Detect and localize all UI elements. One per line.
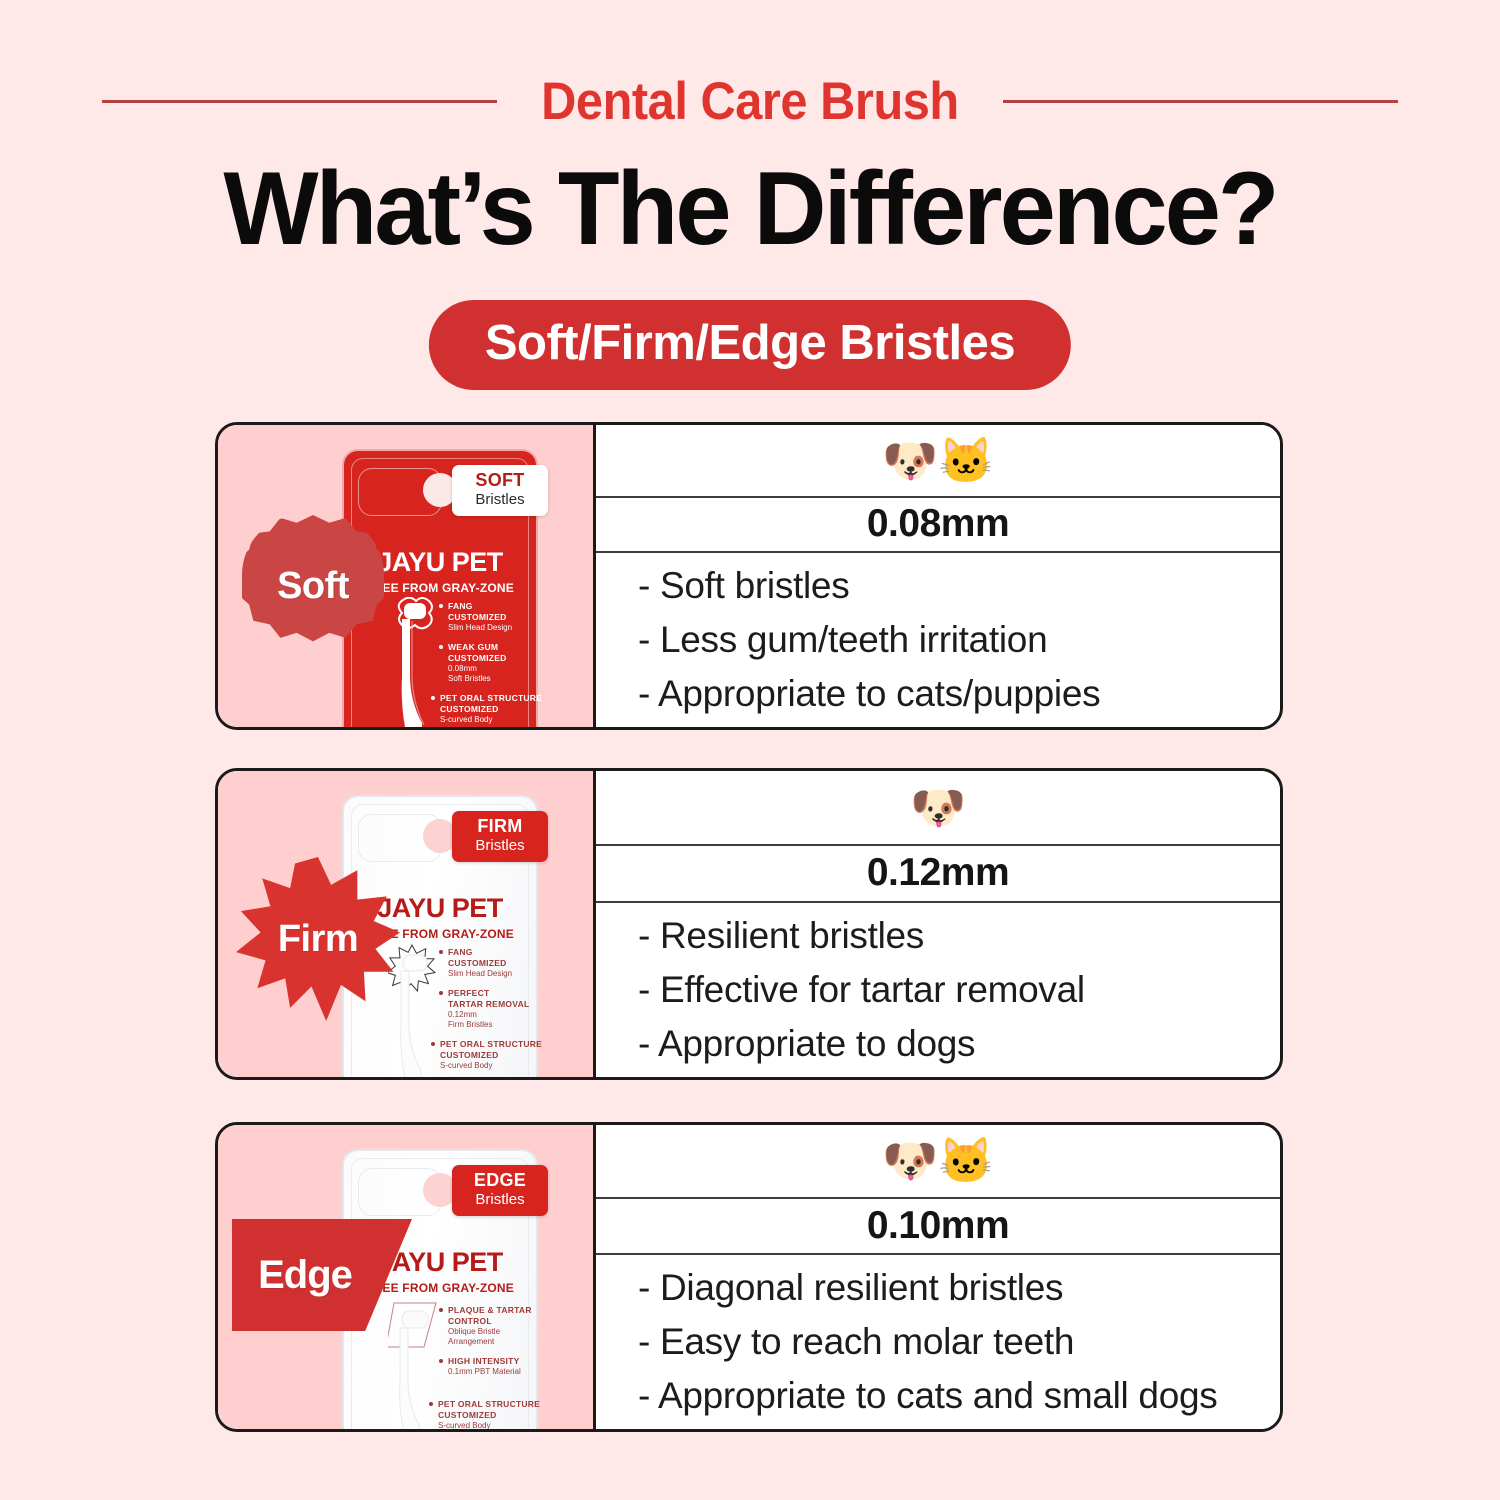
feature-list: - Resilient bristles - Effective for tar… <box>596 903 1280 1077</box>
bristle-thickness-value: 0.12mm <box>596 846 1280 903</box>
annotation-head: PET ORAL STRUCTURE CUSTOMIZED <box>440 1039 544 1061</box>
annotation-sub: 0.12mm Firm Bristles <box>448 1010 542 1030</box>
annotation-sub: Slim Head Design <box>448 623 542 633</box>
feature-list: - Diagonal resilient bristles - Easy to … <box>596 1255 1280 1429</box>
annotation-head: HIGH INTENSITY <box>448 1356 542 1367</box>
toothbrush-illustration-icon <box>388 943 440 1077</box>
eyebrow-rule-right <box>1003 100 1398 103</box>
annotation-sub: Slim Head Design <box>448 969 542 979</box>
annotation-sub: S-curved Body <box>440 1061 544 1071</box>
list-item: - Effective for tartar removal <box>638 963 1280 1017</box>
spec-panel: 🐶🐱 0.10mm - Diagonal resilient bristles … <box>596 1125 1280 1429</box>
pet-suitability-icons: 🐶🐱 <box>596 425 1280 498</box>
annotation-group: PET ORAL STRUCTURE CUSTOMIZED S-curved B… <box>438 1399 544 1429</box>
annotation-sub: S-curved Body <box>440 715 544 725</box>
list-item: - Less gum/teeth irritation <box>638 613 1280 667</box>
pet-suitability-icons: 🐶 <box>596 771 1280 846</box>
bristle-tag-title: FIRM <box>456 817 544 836</box>
product-image-panel: SOFT Bristles JAYU PET FREE FROM GRAY-ZO… <box>218 425 596 727</box>
list-item: - Appropriate to dogs <box>638 1017 1280 1071</box>
subtitle-pill: Soft/Firm/Edge Bristles <box>429 300 1071 390</box>
list-item: - Soft bristles <box>638 559 1280 613</box>
annotation-group: PERFECT TARTAR REMOVAL 0.12mm Firm Brist… <box>448 988 542 1030</box>
annotation-dot-icon <box>439 991 443 995</box>
annotation-group: FANG CUSTOMIZED Slim Head Design <box>448 601 542 633</box>
annotation-group: FANG CUSTOMIZED Slim Head Design <box>448 947 542 979</box>
bristle-thickness-value: 0.08mm <box>596 498 1280 553</box>
annotation-dot-icon <box>439 604 443 608</box>
list-item: - Diagonal resilient bristles <box>638 1261 1280 1315</box>
bristle-tag-sub: Bristles <box>456 492 544 508</box>
comparison-card-soft: SOFT Bristles JAYU PET FREE FROM GRAY-ZO… <box>215 422 1283 730</box>
toothbrush-illustration-icon <box>388 1297 440 1429</box>
bristle-type-tag: SOFT Bristles <box>452 465 548 516</box>
annotation-head: PET ORAL STRUCTURE CUSTOMIZED <box>440 693 544 715</box>
annotation-dot-icon <box>439 950 443 954</box>
product-image-panel: FIRM Bristles JAYU PET FREE FROM GRAY-ZO… <box>218 771 596 1077</box>
bristle-tag-sub: Bristles <box>456 838 544 854</box>
bristle-tag-title: SOFT <box>456 471 544 490</box>
page-title: What’s The Difference? <box>23 150 1478 269</box>
annotation-dot-icon <box>439 1308 443 1312</box>
pet-suitability-icons: 🐶🐱 <box>596 1125 1280 1199</box>
comparison-card-firm: FIRM Bristles JAYU PET FREE FROM GRAY-ZO… <box>215 768 1283 1080</box>
list-item: - Appropriate to cats/puppies <box>638 667 1280 721</box>
annotation-sub: 0.08mm Soft Bristles <box>448 664 542 684</box>
package-annotations: FANG CUSTOMIZED Slim Head Design WEAK GU… <box>448 601 542 727</box>
eyebrow-title: Dental Care Brush <box>541 71 959 132</box>
annotation-head: PLAQUE & TARTAR CONTROL <box>448 1305 542 1327</box>
annotation-dot-icon <box>439 645 443 649</box>
annotation-head: PET ORAL STRUCTURE CUSTOMIZED <box>438 1399 544 1421</box>
annotation-sub: Oblique Bristle Arrangement <box>448 1327 542 1347</box>
annotation-group: PET ORAL STRUCTURE CUSTOMIZED S-curved B… <box>440 1039 544 1071</box>
spec-panel: 🐶 0.12mm - Resilient bristles - Effectiv… <box>596 771 1280 1077</box>
annotation-group: WEAK GUM CUSTOMIZED 0.08mm Soft Bristles <box>448 642 542 684</box>
toothbrush-illustration-icon <box>388 597 440 727</box>
bristle-type-tag: EDGE Bristles <box>452 1165 548 1216</box>
bristle-tag-title: EDGE <box>456 1171 544 1190</box>
feature-list: - Soft bristles - Less gum/teeth irritat… <box>596 553 1280 727</box>
list-item: - Appropriate to cats and small dogs <box>638 1369 1280 1423</box>
product-image-panel: EDGE Bristles JAYU PET FREE FROM GRAY-ZO… <box>218 1125 596 1429</box>
annotation-sub: 0.1mm PBT Material <box>448 1367 542 1377</box>
eyebrow-rule-left <box>102 100 497 103</box>
annotation-group: PLAQUE & TARTAR CONTROL Oblique Bristle … <box>448 1305 542 1347</box>
annotation-group: HIGH INTENSITY 0.1mm PBT Material <box>448 1356 542 1377</box>
annotation-sub: S-curved Body <box>438 1421 544 1429</box>
comparison-card-edge: EDGE Bristles JAYU PET FREE FROM GRAY-ZO… <box>215 1122 1283 1432</box>
annotation-head: FANG CUSTOMIZED <box>448 947 542 969</box>
bristle-thickness-value: 0.10mm <box>596 1199 1280 1255</box>
eyebrow-banner: Dental Care Brush <box>0 66 1500 136</box>
bristle-type-tag: FIRM Bristles <box>452 811 548 862</box>
package-annotations: FANG CUSTOMIZED Slim Head Design PERFECT… <box>448 947 542 1077</box>
list-item: - Resilient bristles <box>638 909 1280 963</box>
spec-panel: 🐶🐱 0.08mm - Soft bristles - Less gum/tee… <box>596 425 1280 727</box>
annotation-head: WEAK GUM CUSTOMIZED <box>448 642 542 664</box>
annotation-group: PET ORAL STRUCTURE CUSTOMIZED S-curved B… <box>440 693 544 725</box>
annotation-head: FANG CUSTOMIZED <box>448 601 542 623</box>
package-annotations: PLAQUE & TARTAR CONTROL Oblique Bristle … <box>448 1305 542 1429</box>
bristle-tag-sub: Bristles <box>456 1192 544 1208</box>
list-item: - Easy to reach molar teeth <box>638 1315 1280 1369</box>
annotation-head: PERFECT TARTAR REMOVAL <box>448 988 542 1010</box>
